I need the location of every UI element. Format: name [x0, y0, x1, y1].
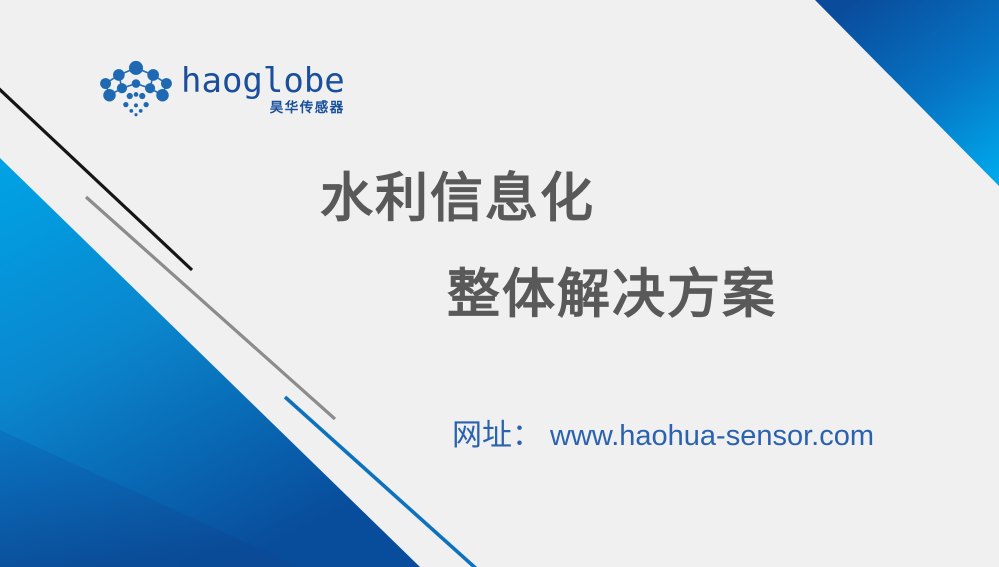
website-line: 网址： www.haohua-sensor.com [452, 421, 874, 451]
blue-gradient-triangle-top-right [815, 0, 999, 186]
slide-title-line-1: 水利信息化 [320, 172, 595, 225]
website-label: 网址： [452, 421, 542, 451]
company-logo: haoglobe 昊华传感器 [97, 58, 327, 120]
logo-wordmark: haoglobe [181, 65, 345, 97]
website-url[interactable]: www.haohua-sensor.com [550, 422, 874, 451]
slide-title-line-2: 整体解决方案 [447, 268, 777, 321]
presentation-slide: haoglobe 昊华传感器 水利信息化 整体解决方案 网址： www.haoh… [0, 0, 999, 567]
haoglobe-network-dots-icon [97, 60, 175, 118]
logo-subtitle: 昊华传感器 [270, 101, 345, 115]
logo-text: haoglobe 昊华传感器 [181, 63, 345, 115]
